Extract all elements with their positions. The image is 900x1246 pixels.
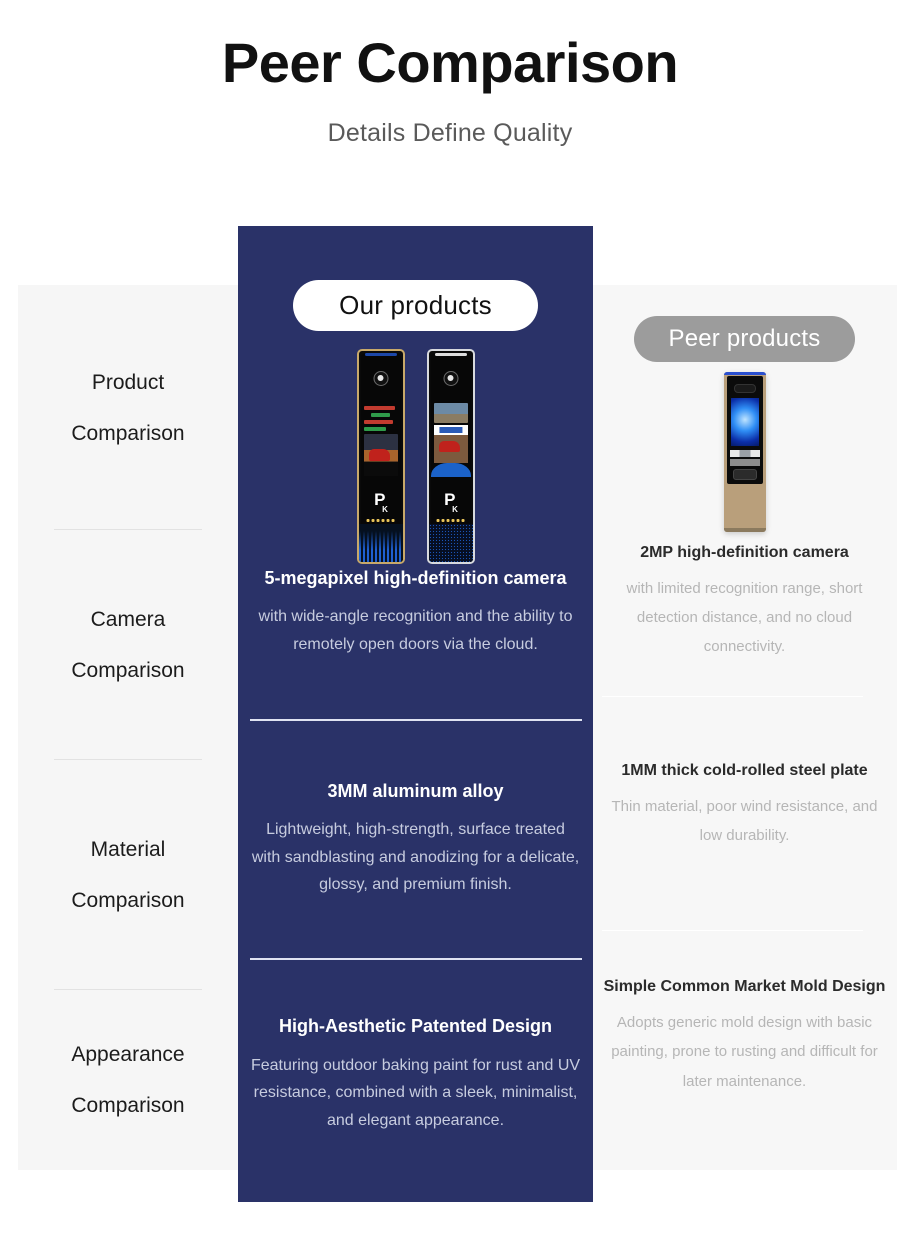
our-camera-title: 5-megapixel high-definition camera [264, 568, 566, 590]
device-lower-pattern [359, 524, 403, 562]
peer-block-material: 1MM thick cold-rolled steel plate Thin m… [592, 696, 897, 930]
criteria-label-line2: Comparison [71, 423, 184, 444]
our-camera-description: with wide-angle recognition and the abil… [251, 603, 581, 658]
our-block-appearance: High-Aesthetic Patented Design Featuring… [246, 958, 586, 1202]
device-text-lines [364, 406, 398, 431]
peer-terminal-device-icon [724, 372, 766, 532]
peer-appearance-title: Simple Common Market Mold Design [604, 977, 886, 996]
criteria-label-line1: Camera [91, 609, 166, 630]
our-block-material: 3MM aluminum alloy Lightweight, high-str… [246, 719, 586, 958]
criteria-label-line2: Comparison [71, 890, 184, 911]
criteria-label-column: Product Comparison Camera Comparison Mat… [18, 285, 238, 1170]
device-ad-photo [364, 434, 398, 476]
device-logo-secondary: K [452, 506, 457, 514]
peer-block-camera: 2MP high-definition camera with limited … [592, 539, 897, 696]
peer-products-column: Peer products 2MP high-definition camera… [592, 285, 897, 1170]
peer-device-top-accent [724, 372, 766, 375]
our-products-image: P K P K [357, 349, 475, 564]
our-products-badge: Our products [293, 280, 538, 331]
device-top-accent [435, 353, 467, 356]
device-top-accent [365, 353, 397, 356]
our-appearance-description: Featuring outdoor baking paint for rust … [251, 1052, 581, 1135]
device-brand-logo: P K [374, 491, 387, 514]
criteria-row-appearance: Appearance Comparison [18, 990, 238, 1170]
peer-device-face [727, 376, 763, 484]
device-ad-photo [434, 403, 468, 423]
peer-product-image [592, 366, 897, 539]
criteria-row-camera: Camera Comparison [18, 530, 238, 760]
device-camera-icon [443, 371, 458, 386]
our-appearance-title: High-Aesthetic Patented Design [279, 1016, 552, 1038]
criteria-label-line2: Comparison [71, 660, 184, 681]
criteria-label-line1: Product [92, 372, 164, 393]
peer-material-description: Thin material, poor wind resistance, and… [610, 792, 880, 851]
criteria-label-line1: Appearance [71, 1044, 184, 1065]
device-ad-photo-secondary [434, 425, 468, 463]
our-products-column: Our products P K [238, 226, 593, 1202]
peer-products-badge: Peer products [634, 316, 854, 362]
peer-camera-title: 2MP high-definition camera [640, 543, 849, 562]
peer-device-strip-secondary [730, 459, 760, 466]
peer-camera-description: with limited recognition range, short de… [610, 574, 880, 662]
device-logo-secondary: K [382, 506, 387, 514]
comparison-board: Product Comparison Camera Comparison Mat… [0, 0, 900, 1246]
device-lower-pattern [429, 524, 473, 562]
device-camera-icon [373, 371, 388, 386]
our-material-title: 3MM aluminum alloy [327, 781, 503, 803]
peer-device-card-reader [733, 469, 757, 480]
our-material-description: Lightweight, high-strength, surface trea… [251, 816, 581, 899]
criteria-label-line2: Comparison [71, 1095, 184, 1116]
criteria-row-product: Product Comparison [18, 285, 238, 530]
device-wave-accent [431, 463, 471, 477]
peer-block-appearance: Simple Common Market Mold Design Adopts … [592, 930, 897, 1170]
our-block-camera: 5-megapixel high-definition camera with … [246, 564, 586, 719]
peer-device-base [724, 528, 766, 532]
criteria-row-material: Material Comparison [18, 760, 238, 990]
device-brand-logo: P K [444, 491, 457, 514]
our-terminal-device-gold-icon: P K [357, 349, 405, 564]
peer-material-title: 1MM thick cold-rolled steel plate [621, 761, 867, 780]
our-terminal-device-silver-icon: P K [427, 349, 475, 564]
peer-appearance-description: Adopts generic mold design with basic pa… [610, 1008, 880, 1096]
criteria-label-line1: Material [91, 839, 166, 860]
peer-device-camera-icon [734, 384, 756, 393]
peer-device-strip [730, 450, 760, 457]
peer-device-screen [731, 398, 759, 446]
